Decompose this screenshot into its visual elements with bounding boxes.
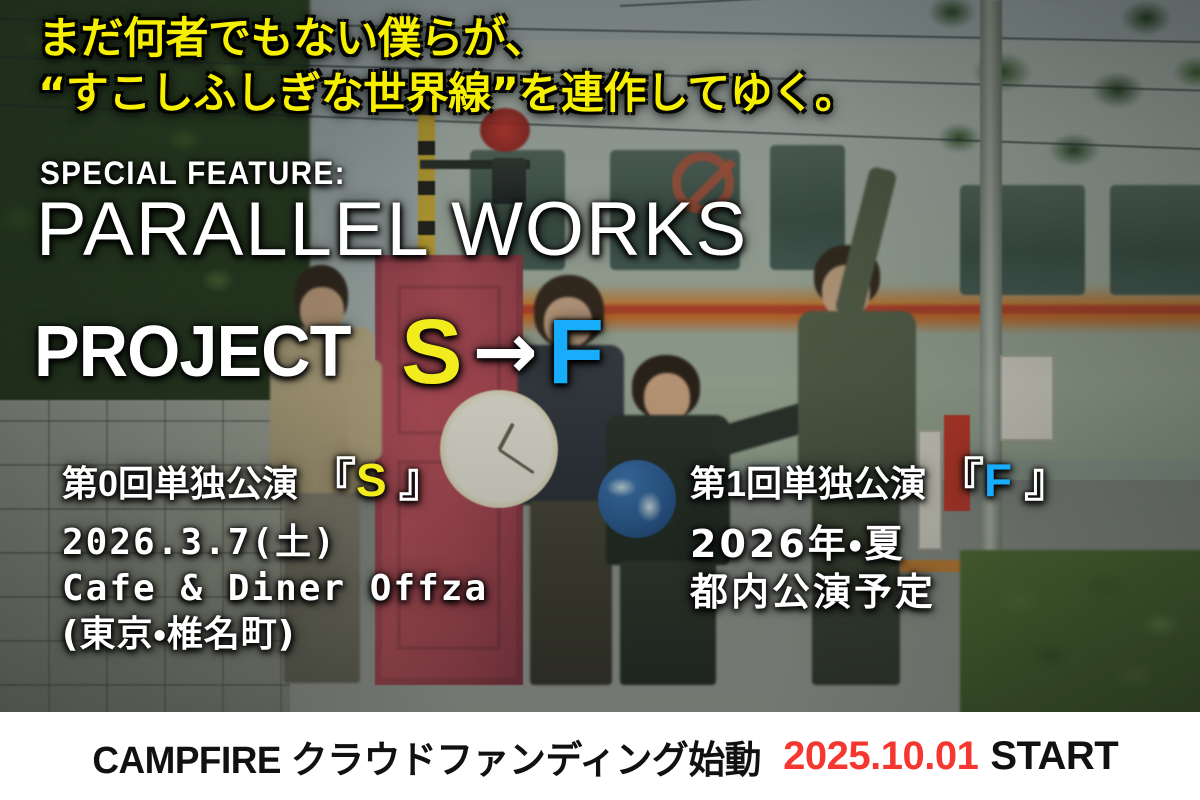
show-heading-row: 第0回単独公演 『 S 』 xyxy=(62,455,582,506)
show-date: 2026年・夏 xyxy=(690,520,1160,569)
show-tag: S xyxy=(356,455,387,506)
show-location: (東京・椎名町) xyxy=(62,612,582,658)
show-tag: F xyxy=(984,455,1012,506)
crowdfunding-bar: CAMPFIRE クラウドファンディング始動 2025.10.01 START xyxy=(0,712,1200,800)
project-word: PROJECT xyxy=(34,316,350,388)
headline: まだ何者でもない僕らが、 “すこしふしぎな世界線”を連作してゆく。 xyxy=(38,12,943,122)
headline-line-2: “すこしふしぎな世界線”を連作してゆく。 xyxy=(38,67,943,122)
crowdfunding-lead-text: CAMPFIRE クラウドファンディング始動 xyxy=(92,729,761,784)
bracket-open: 『 xyxy=(938,455,984,506)
show-heading: 第1回単独公演 xyxy=(690,464,926,504)
crowdfunding-start-label: START xyxy=(990,734,1118,779)
arrow-right-icon: → xyxy=(472,313,537,391)
project-to-tag: F xyxy=(548,306,604,398)
bracket-close: 』 xyxy=(1024,455,1070,506)
show-location: 都内公演予定 xyxy=(690,568,1160,617)
show-date: 2026.3.7(土) xyxy=(62,520,582,566)
show-venue: Cafe & Diner Offza xyxy=(62,566,582,612)
project-from-tag: S xyxy=(401,306,462,398)
crowdfunding-start-date: 2025.10.01 xyxy=(783,734,978,779)
show-heading-row: 第1回単独公演 『 F 』 xyxy=(690,455,1160,506)
bracket-open: 『 xyxy=(310,455,356,506)
feature-title: PARALLEL WORKS xyxy=(36,192,748,268)
bracket-close: 』 xyxy=(399,455,445,506)
show-details: 2026年・夏 都内公演予定 xyxy=(690,520,1160,617)
headline-line-1: まだ何者でもない僕らが、 xyxy=(38,12,943,67)
show-info-column-0: 第0回単独公演 『 S 』 2026.3.7(土) Cafe & Diner O… xyxy=(62,455,582,658)
promo-poster: まだ何者でもない僕らが、 “すこしふしぎな世界線”を連作してゆく。 SPECIA… xyxy=(0,0,1200,800)
show-heading: 第0回単独公演 xyxy=(62,464,298,504)
show-info-column-1: 第1回単独公演 『 F 』 2026年・夏 都内公演予定 xyxy=(690,455,1160,617)
project-title-row: PROJECT S → F xyxy=(34,306,604,398)
show-details: 2026.3.7(土) Cafe & Diner Offza (東京・椎名町) xyxy=(62,520,582,658)
poster-content: まだ何者でもない僕らが、 “すこしふしぎな世界線”を連作してゆく。 SPECIA… xyxy=(0,0,1200,800)
